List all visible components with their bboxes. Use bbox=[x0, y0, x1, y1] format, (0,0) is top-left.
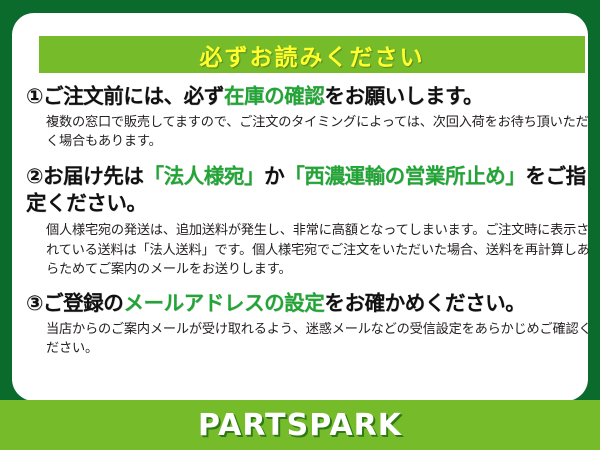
notice-heading: ②お届け先は「法人様宛」か「西濃運輸の営業所止め」をご指定ください。 bbox=[24, 163, 600, 217]
notice-heading-part: ご登録の bbox=[43, 291, 123, 315]
notice-body: 複数の窓口で販売してますので、ご注文のタイミングによっては、次回入荷をお待ち頂い… bbox=[24, 110, 600, 151]
notice-list: ①ご注文前には、必ず在庫の確認をお願いします。 複数の窓口で販売してますので、ご… bbox=[24, 83, 600, 360]
notice-body: 当店からのご案内メールが受け取れるよう、迷惑メールなどの受信設定をあらかじめご確… bbox=[24, 317, 600, 358]
header-banner: 必ずお読みください bbox=[39, 36, 585, 73]
notice-item-3: ③ご登録のメールアドレスの設定をお確かめください。 当店からのご案内メールが受け… bbox=[24, 290, 600, 358]
notice-heading-part: をお確かめください。 bbox=[324, 291, 525, 315]
notice-marker: ③ bbox=[26, 291, 43, 315]
notice-marker: ① bbox=[26, 84, 43, 108]
notice-panel: 必ずお読みください ①ご注文前には、必ず在庫の確認をお願いします。 複数の窓口で… bbox=[12, 13, 588, 401]
notice-heading-emphasis: メールアドレスの設定 bbox=[123, 291, 324, 315]
footer-bar: PARTSPARK bbox=[0, 400, 600, 450]
notice-item-2: ②お届け先は「法人様宛」か「西濃運輸の営業所止め」をご指定ください。 個人様宅宛… bbox=[24, 163, 600, 279]
notice-heading-emphasis: 「西濃運輸の営業所止め」 bbox=[284, 164, 525, 188]
notice-marker: ② bbox=[26, 164, 43, 188]
brand-logo: PARTSPARK bbox=[198, 408, 402, 443]
notice-heading-emphasis: 「法人様宛」 bbox=[143, 164, 264, 188]
notice-heading: ③ご登録のメールアドレスの設定をお確かめください。 bbox=[24, 290, 600, 317]
notice-heading-part: か bbox=[264, 164, 284, 188]
page-title: 必ずお読みください bbox=[200, 38, 425, 72]
notice-heading: ①ご注文前には、必ず在庫の確認をお願いします。 bbox=[24, 83, 600, 110]
notice-body: 個人様宅宛の発送は、追加送料が発生し、非常に高額となってしまいます。ご注文時に表… bbox=[24, 217, 600, 278]
notice-heading-part: お届け先は bbox=[43, 164, 144, 188]
notice-heading-emphasis: 在庫の確認 bbox=[224, 84, 325, 108]
notice-heading-part: をお願いします。 bbox=[324, 84, 483, 108]
notice-heading-part: ご注文前には、必ず bbox=[43, 84, 224, 108]
notice-item-1: ①ご注文前には、必ず在庫の確認をお願いします。 複数の窓口で販売してますので、ご… bbox=[24, 83, 600, 151]
